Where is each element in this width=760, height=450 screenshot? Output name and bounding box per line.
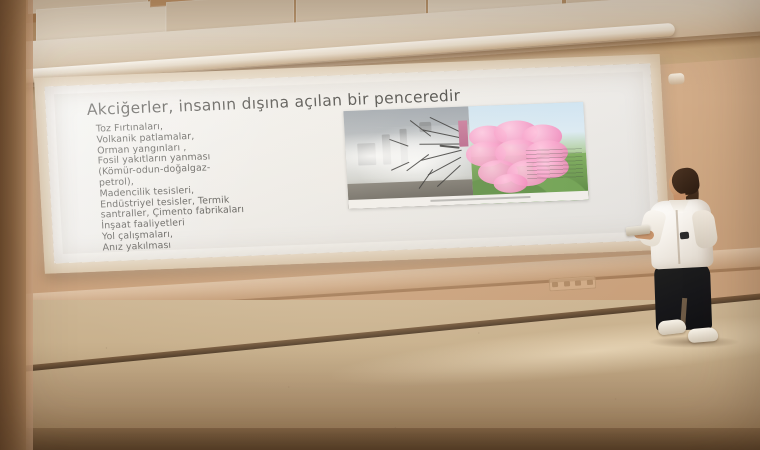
presenter-wristwatch <box>680 232 690 240</box>
screen-roller-end-cap <box>668 73 685 85</box>
presenter-right-arm <box>691 209 719 250</box>
left-wall-column <box>0 0 26 450</box>
image-caption-text <box>526 148 584 180</box>
floor-foreground-shadow <box>0 428 760 450</box>
slide-bullet-list: Toz Fırtınaları, Volkanik patlamalar, Or… <box>96 115 343 254</box>
presenter-right-shoe <box>687 327 718 344</box>
presenter-left-shoe <box>657 318 686 335</box>
screen-surface: Akciğerler, insanın dışına açılan bir pe… <box>44 63 660 263</box>
bare-tree-branches <box>351 118 475 197</box>
projection-screen: Akciğerler, insanın dışına açılan bir pe… <box>34 54 671 274</box>
presentation-slide: Akciğerler, insanın dışına açılan bir pe… <box>54 72 652 254</box>
presenter <box>636 170 760 346</box>
classroom-presentation-photo: Akciğerler, insanın dışına açılan bir pe… <box>0 0 760 450</box>
slide-image-lung-illustration <box>343 102 588 209</box>
